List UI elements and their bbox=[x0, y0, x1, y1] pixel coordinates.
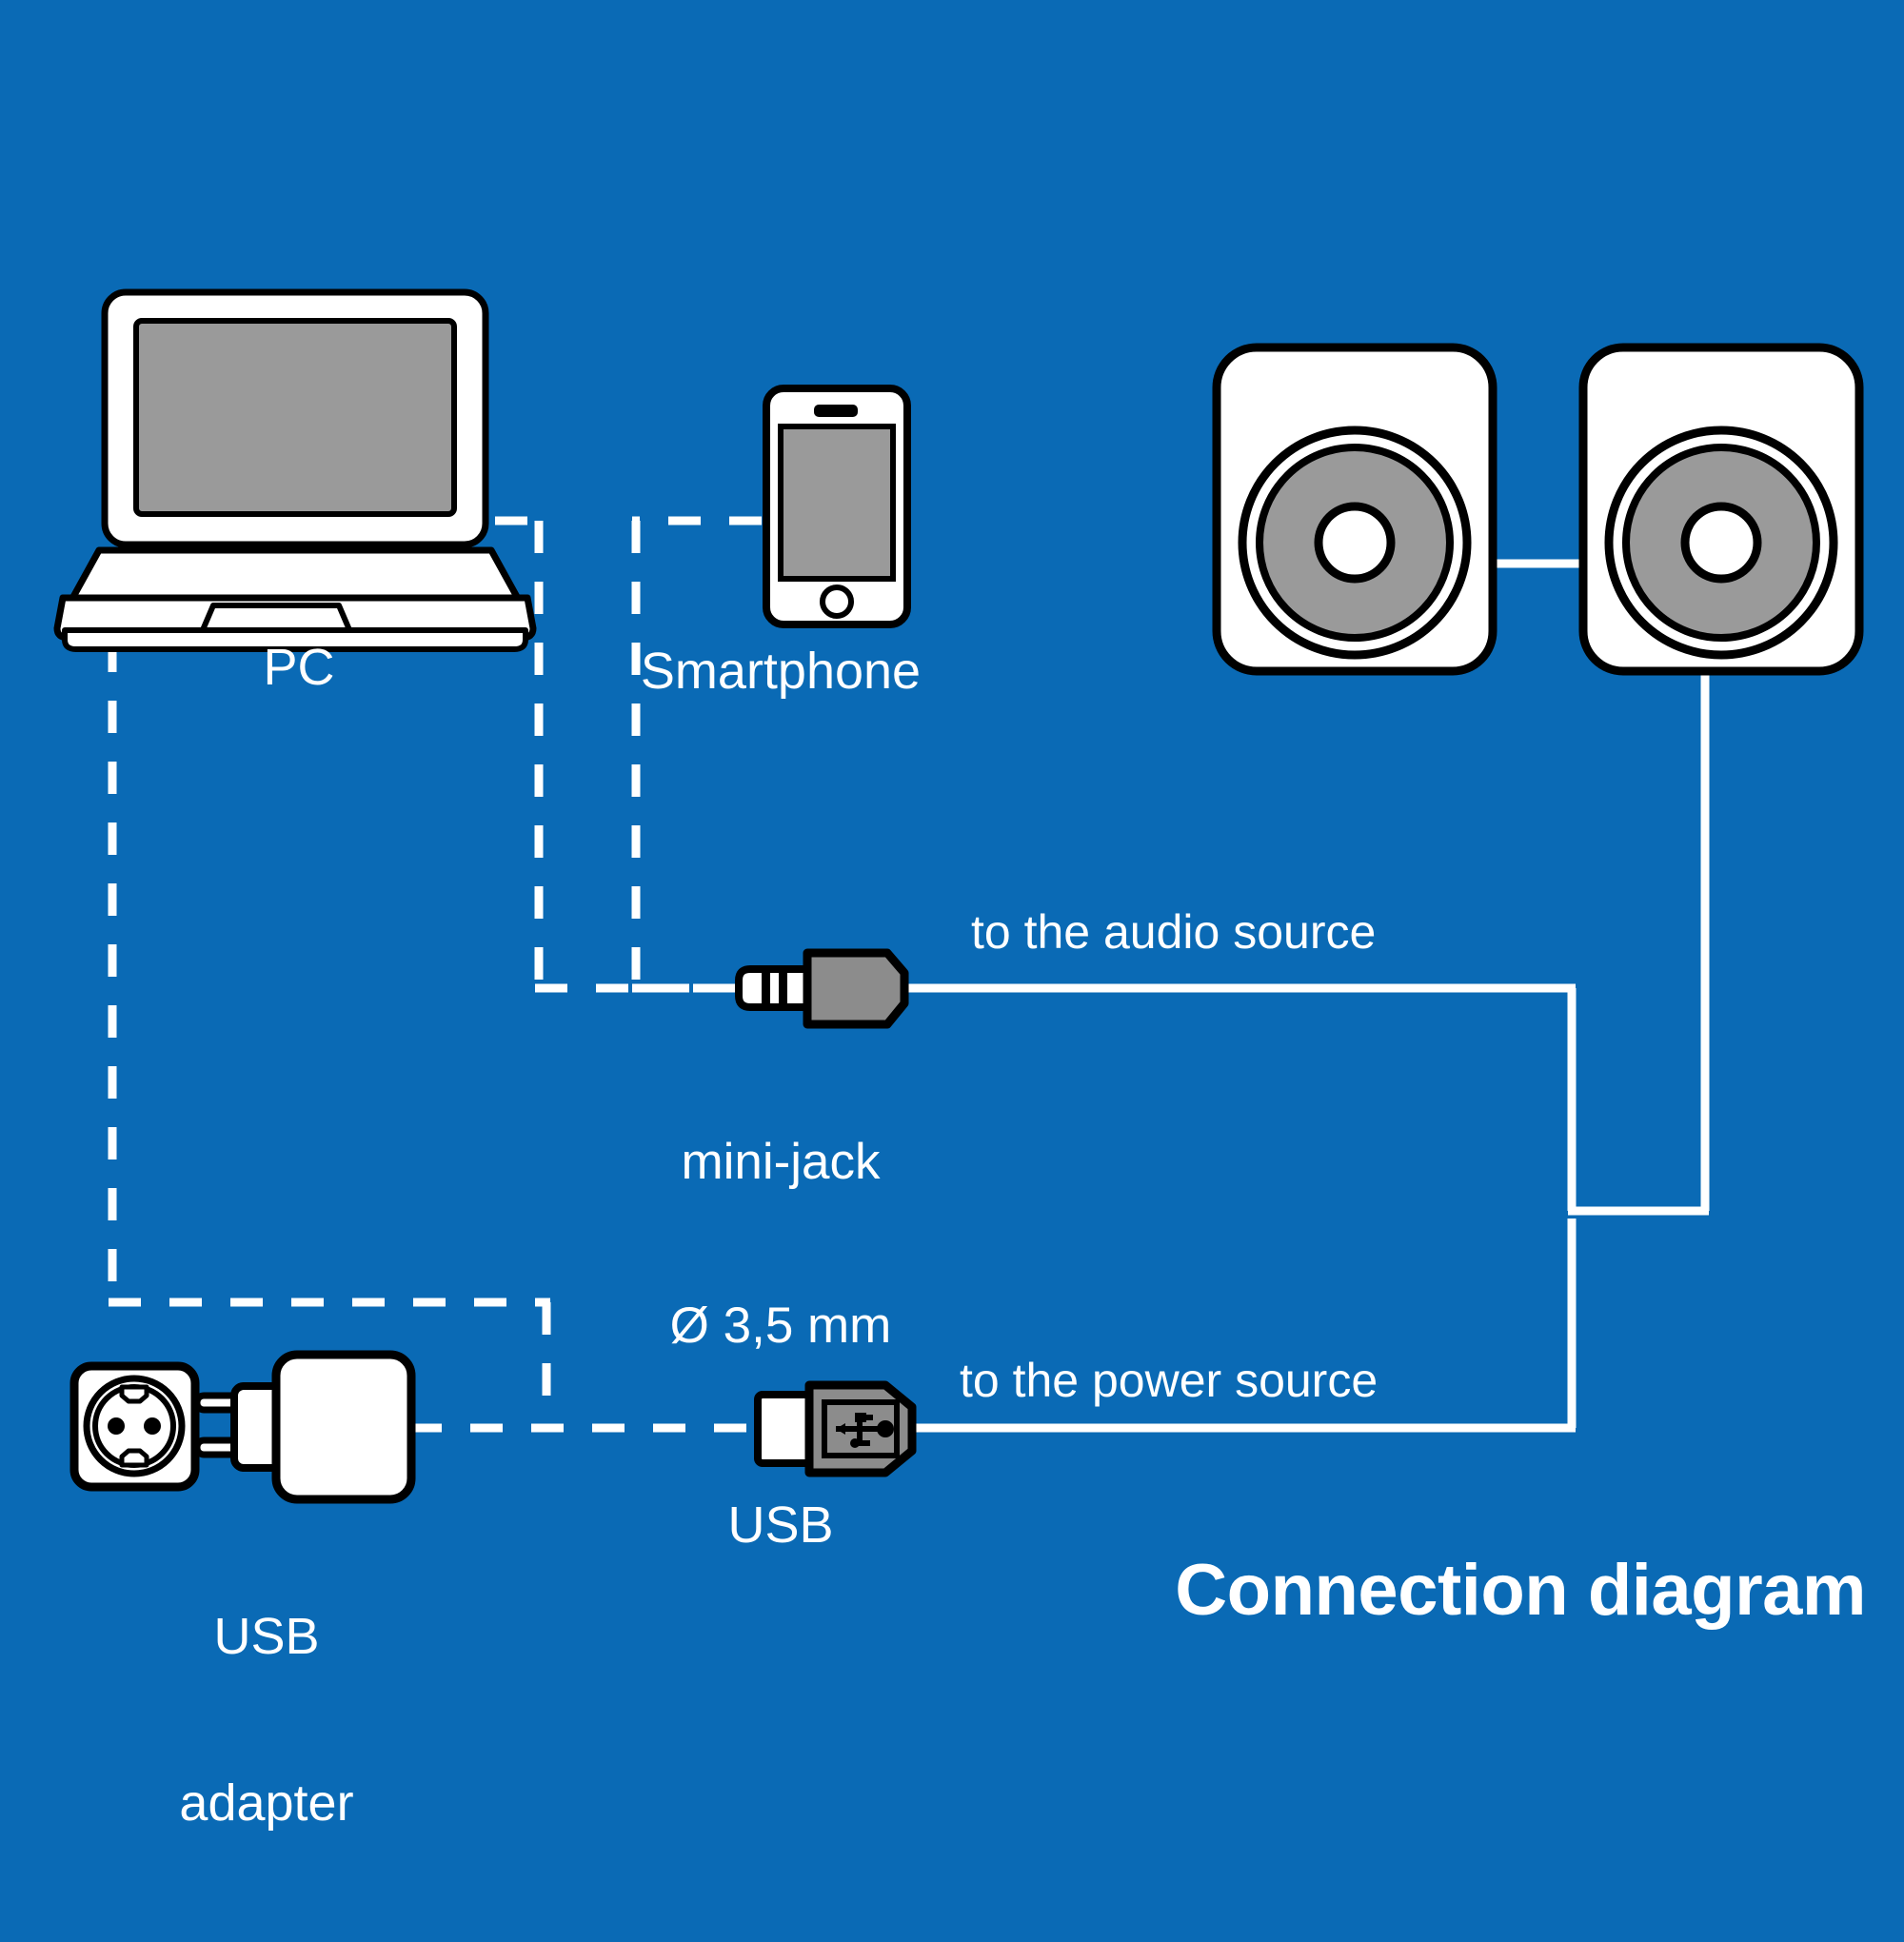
laptop-icon bbox=[57, 292, 533, 649]
label-power-source: to the power source bbox=[960, 1355, 1378, 1406]
smartphone-icon bbox=[766, 388, 907, 624]
connection-diagram-canvas: PC Smartphone mini-jack Ø 3,5 mm to the … bbox=[0, 0, 1904, 1904]
cable-smartphone-to-minijack bbox=[632, 521, 762, 988]
label-usb-adapter-line2: adapter bbox=[86, 1775, 447, 1831]
label-usb: USB bbox=[628, 1497, 933, 1553]
label-usb-adapter-line1: USB bbox=[86, 1609, 447, 1664]
label-usb-adapter: USB adapter bbox=[86, 1497, 447, 1942]
label-minijack-line2: Ø 3,5 mm bbox=[590, 1298, 971, 1353]
wall-socket-icon bbox=[74, 1366, 195, 1487]
speaker-icon-right bbox=[1583, 347, 1859, 671]
label-smartphone: Smartphone bbox=[533, 644, 1028, 699]
cable-pc-to-usb-adapter bbox=[109, 640, 550, 1428]
cable-pc-to-minijack bbox=[495, 521, 752, 988]
label-minijack: mini-jack Ø 3,5 mm bbox=[590, 1026, 971, 1462]
minijack-plug-icon bbox=[739, 953, 904, 1024]
diagram-title: Connection diagram bbox=[1028, 1552, 1866, 1630]
label-audio-source: to the audio source bbox=[971, 906, 1376, 958]
label-pc: PC bbox=[0, 640, 598, 695]
usb-power-adapter-icon bbox=[197, 1355, 411, 1499]
speaker-icon-left bbox=[1217, 347, 1493, 671]
label-minijack-line1: mini-jack bbox=[590, 1135, 971, 1189]
